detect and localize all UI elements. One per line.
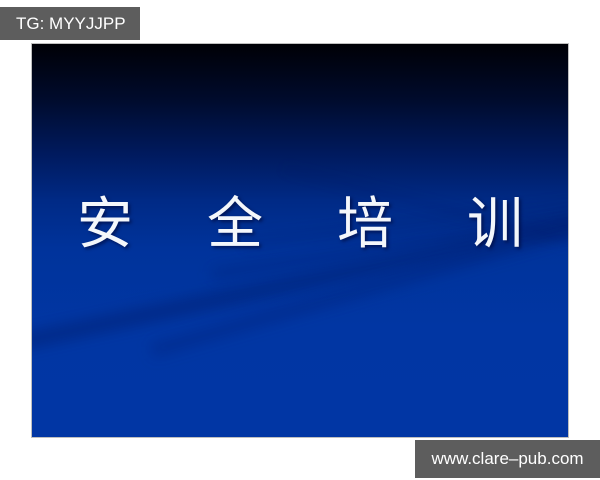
telegram-watermark-badge: TG: MYYJJPP [0, 7, 140, 40]
slide-title: 安 全 培 训 [32, 194, 568, 256]
site-watermark-badge: www.clare–pub.com [415, 440, 600, 478]
site-watermark-label: www.clare–pub.com [431, 449, 583, 469]
telegram-watermark-label: TG: MYYJJPP [16, 14, 126, 34]
presentation-slide: 安 全 培 训 [32, 44, 568, 437]
